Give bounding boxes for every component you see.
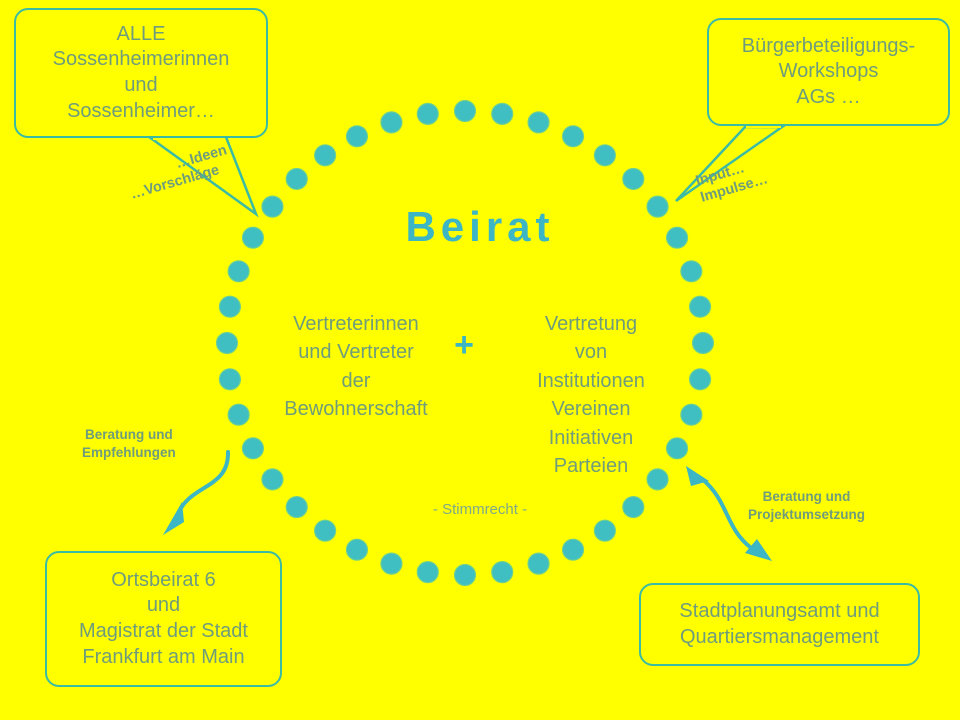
box-stadtplanungsamt: Stadtplanungsamt und Quartiersmanagement <box>639 583 920 666</box>
center-column-institutions-line-2: von <box>500 338 682 366</box>
ring-dot <box>455 101 476 122</box>
ring-dot <box>563 126 584 147</box>
center-column-residents-line-4: Bewohnerschaft <box>262 395 450 423</box>
callout-citizens: ALLE Sossenheimerinnen und Sossenheimer… <box>14 8 268 138</box>
label-beratung-empfehlungen-line-1: Beratung und <box>82 426 176 444</box>
ring-dot <box>242 438 263 459</box>
center-column-institutions-line-3: Institutionen <box>500 367 682 395</box>
box-stadtplanungsamt-line-1: Stadtplanungsamt und <box>679 599 879 625</box>
box-stadtplanungsamt-line-2: Quartiersmanagement <box>680 625 879 651</box>
ring-dot <box>286 168 307 189</box>
box-ortsbeirat: Ortsbeirat 6 und Magistrat der Stadt Fra… <box>45 551 282 687</box>
ring-dot <box>492 562 513 583</box>
ring-dot <box>623 168 644 189</box>
ring-dot <box>594 520 615 541</box>
box-ortsbeirat-line-2: und <box>147 593 180 619</box>
callout-citizens-line-1: ALLE <box>117 22 166 48</box>
callout-workshops-line-2: Workshops <box>779 59 879 85</box>
ring-dot <box>346 539 367 560</box>
label-beratung-projektumsetzung-line-2: Projektumsetzung <box>748 506 865 524</box>
ring-dot <box>594 145 615 166</box>
ring-dot <box>219 296 240 317</box>
callout-citizens-line-4: Sossenheimer… <box>67 99 215 125</box>
ring-dot <box>528 112 549 133</box>
box-ortsbeirat-line-4: Frankfurt am Main <box>82 645 244 671</box>
ring-dot <box>455 565 476 586</box>
ring-dot <box>681 404 702 425</box>
ring-dot <box>315 145 336 166</box>
center-column-residents-line-2: und Vertreter <box>262 338 450 366</box>
label-beratung-projektumsetzung-line-1: Beratung und <box>748 488 865 506</box>
label-beratung-projektumsetzung: Beratung und Projektumsetzung <box>748 488 865 523</box>
plus-icon: + <box>444 328 484 362</box>
ring-dot <box>563 539 584 560</box>
center-column-residents-line-1: Vertreterinnen <box>262 310 450 338</box>
center-column-residents: Vertreterinnen und Vertreter der Bewohne… <box>262 310 450 424</box>
callout-citizens-line-3: und <box>124 73 157 99</box>
label-beratung-empfehlungen-line-2: Empfehlungen <box>82 444 176 462</box>
label-beratung-empfehlungen: Beratung und Empfehlungen <box>82 426 176 461</box>
ring-dot <box>346 126 367 147</box>
center-column-residents-line-3: der <box>262 367 450 395</box>
center-column-institutions-line-4: Vereinen <box>500 395 682 423</box>
ring-dot <box>315 520 336 541</box>
ring-dot <box>228 404 249 425</box>
ring-dot <box>217 333 238 354</box>
ring-dot <box>417 103 438 124</box>
center-column-institutions-line-5: Initiativen <box>500 424 682 452</box>
ring-dot <box>693 333 714 354</box>
box-ortsbeirat-line-1: Ortsbeirat 6 <box>111 568 215 594</box>
ring-dot <box>228 261 249 282</box>
ring-dot <box>381 112 402 133</box>
arrow-beratung-projektumsetzung-head-down <box>745 539 772 561</box>
box-ortsbeirat-line-3: Magistrat der Stadt <box>79 619 248 645</box>
ring-dot <box>681 261 702 282</box>
callout-workshops-line-1: Bürgerbeteiligungs- <box>742 34 915 60</box>
ring-dot <box>690 369 711 390</box>
ring-dot <box>262 469 283 490</box>
center-column-institutions: Vertretung von Institutionen Vereinen In… <box>500 310 682 480</box>
ring-dot <box>381 553 402 574</box>
center-column-institutions-line-1: Vertretung <box>500 310 682 338</box>
ring-dot <box>492 103 513 124</box>
center-column-institutions-line-6: Parteien <box>500 452 682 480</box>
callout-workshops-line-3: AGs … <box>796 85 860 111</box>
page-title-beirat: Beirat <box>0 203 960 251</box>
ring-dot <box>417 562 438 583</box>
callout-workshops: Bürgerbeteiligungs- Workshops AGs … <box>707 18 950 126</box>
ring-dot <box>528 553 549 574</box>
diagram-canvas: ALLE Sossenheimerinnen und Sossenheimer…… <box>0 0 960 720</box>
callout-citizens-line-2: Sossenheimerinnen <box>53 47 230 73</box>
ring-dot <box>690 296 711 317</box>
ring-dot <box>219 369 240 390</box>
